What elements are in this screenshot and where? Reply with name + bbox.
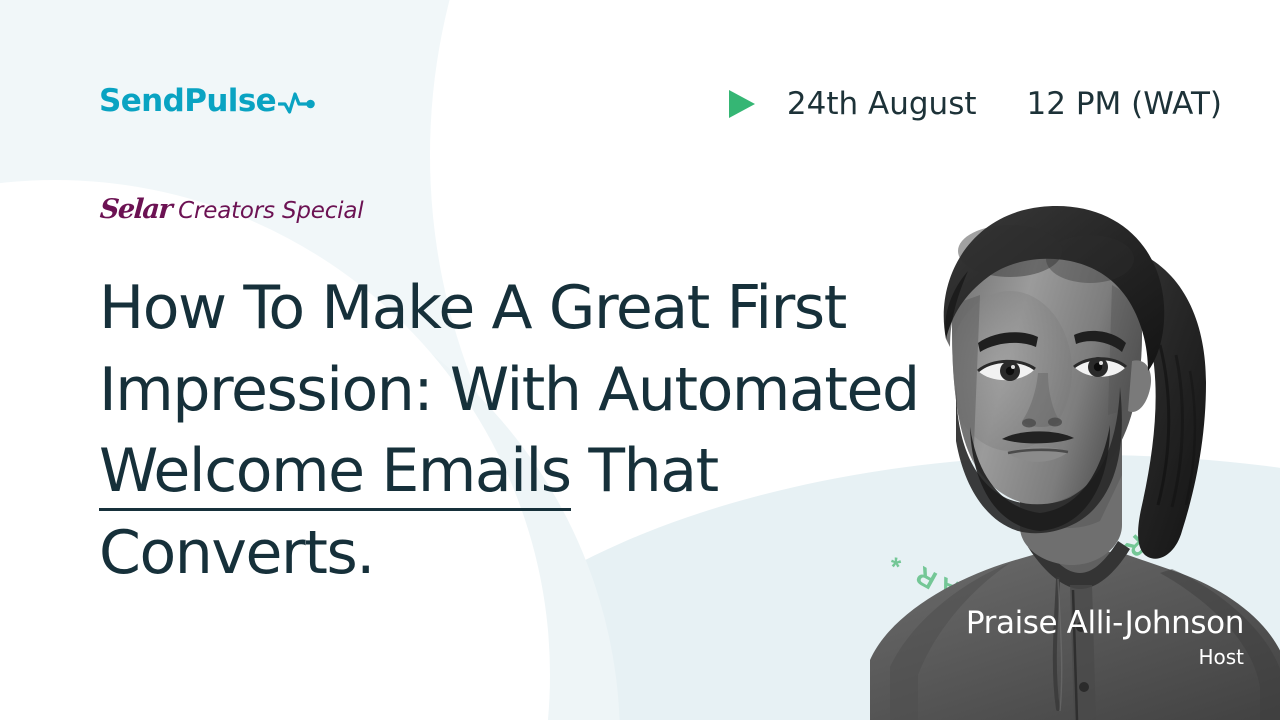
sendpulse-logo[interactable]: SendPulse [99, 86, 316, 117]
webinar-date: 24th August [787, 89, 977, 120]
presenter-name: Praise Alli-Johnson [966, 606, 1244, 640]
presenter-role: Host [966, 642, 1244, 672]
play-triangle-icon[interactable] [721, 84, 761, 124]
eyebrow-label: Selar Creators Special [100, 196, 363, 223]
webinar-time: 12 PM (WAT) [1027, 89, 1222, 120]
headline-line-2: Impression: With Automated [99, 350, 1019, 432]
pulse-icon [278, 89, 316, 115]
headline-underlined-phrase: Welcome Emails [99, 436, 571, 511]
schedule-row: 24th August 12 PM (WAT) [721, 84, 1222, 124]
headline-line-3-rest: That [571, 436, 718, 506]
eyebrow-subtitle: Creators Special [178, 200, 363, 223]
headline-line-1: How To Make A Great First [99, 268, 1019, 350]
headline-line-3: Welcome Emails That [99, 431, 1019, 513]
headline-line-4: Converts. [99, 513, 1019, 595]
presenter-caption: Praise Alli-Johnson Host [966, 606, 1244, 672]
presenter-ear [1128, 360, 1151, 412]
selar-brand-script: Selar [99, 196, 172, 223]
page-title: How To Make A Great First Impression: Wi… [99, 268, 1019, 594]
sendpulse-wordmark: SendPulse [99, 86, 276, 117]
webinar-promo-banner: FREE WEBINAR * FREE WEBINAR * [0, 0, 1280, 720]
